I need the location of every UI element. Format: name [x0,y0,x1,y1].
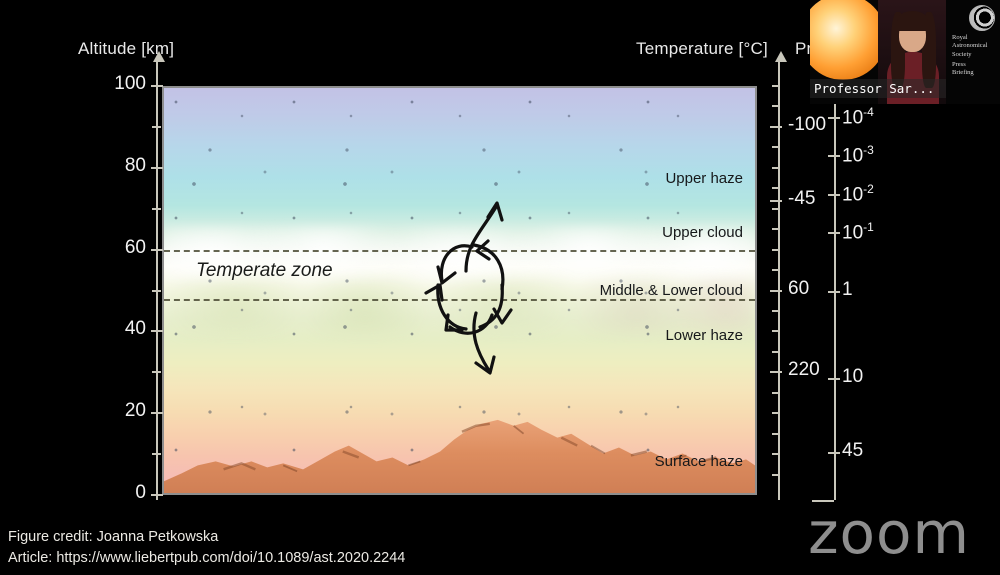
pressure-tick [828,378,840,380]
altitude-minor-tick [152,453,161,455]
temperature-minor-tick [772,310,780,312]
altitude-axis-arrow [152,50,166,66]
speaker-name-label: Professor Sar... [810,79,946,98]
layer-label-surface-haze: Surface haze [655,453,743,470]
temperature-minor-tick [772,167,780,169]
pressure-tick-label: 1 [842,279,853,301]
figure-credit: Figure credit: Joanna Petkowska Article:… [8,527,405,569]
temperature-minor-tick [772,85,780,87]
temperature-tick [770,371,782,373]
temperature-minor-tick [772,474,780,476]
altitude-tick [151,330,163,332]
temperature-minor-tick [772,269,780,271]
temperature-tick-label: 60 [788,278,809,300]
layer-label-middle-lower-cloud: Middle & Lower cloud [600,282,743,299]
temperature-minor-tick [772,392,780,394]
temperature-tick [770,290,782,292]
altitude-minor-tick [152,126,161,128]
branding-organisation: Royal Astronomical Society [952,34,987,59]
zoom-watermark: zoom [808,499,970,567]
presentation-slide: Altitude [km] Temperature [°C] Pre [0,0,1000,575]
altitude-tick-label: 0 [135,482,146,504]
pressure-tick [828,452,840,454]
temperature-minor-tick [772,146,780,148]
temperature-axis-arrow [774,50,788,66]
pressure-tick [828,194,840,196]
altitude-axis: 020406080100 [150,60,164,500]
pressure-tick-label: 10-2 [842,182,874,206]
temperature-minor-tick [772,187,780,189]
pressure-tick-label: 10-1 [842,220,874,244]
altitude-tick [151,167,163,169]
temperature-minor-tick [772,208,780,210]
atmosphere-diagram-plot: Temperate zone Upper haze Upper cloud Mi… [162,86,757,495]
temperate-zone-label: Temperate zone [196,260,333,282]
temperature-minor-tick [772,453,780,455]
temperature-tick-label: 220 [788,359,820,381]
credit-line-article: Article: https://www.liebertpub.com/doi/… [8,548,405,569]
layer-label-upper-haze: Upper haze [665,170,743,187]
pressure-tick-label: 10-3 [842,143,874,167]
altitude-tick [151,85,163,87]
temperature-minor-tick [772,105,780,107]
layer-label-upper-cloud: Upper cloud [662,224,743,241]
video-tile-branding[interactable]: Royal Astronomical Society Press Briefin… [946,0,1000,104]
surface-terrain [164,404,755,493]
altitude-tick-label: 40 [125,318,146,340]
pressure-tick [828,291,840,293]
altitude-tick-label: 80 [125,155,146,177]
altitude-tick [151,494,163,496]
altitude-tick [151,412,163,414]
royal-astronomical-society-logo-icon [969,5,995,31]
altitude-tick [151,249,163,251]
pressure-tick [828,155,840,157]
credit-line-author: Figure credit: Joanna Petkowska [8,527,405,548]
video-participant-strip[interactable]: Royal Astronomical Society Press Briefin… [810,0,1000,104]
altitude-minor-tick [152,290,161,292]
altitude-tick-label: 20 [125,400,146,422]
pressure-axis: 10-410-310-210-111045 [828,96,842,500]
temperature-minor-tick [772,330,780,332]
temperature-minor-tick [772,412,780,414]
temperature-minor-tick [772,228,780,230]
pressure-tick [828,117,840,119]
temperature-minor-tick [772,351,780,353]
branding-session: Press Briefing [952,61,974,78]
altitude-tick-label: 60 [125,237,146,259]
temperature-tick [770,126,782,128]
pressure-tick-label: 45 [842,440,863,462]
sun-icon [810,0,878,80]
pressure-tick-label: 10 [842,366,863,388]
temperature-axis-title: Temperature [°C] [636,39,768,59]
temperature-tick [770,200,782,202]
pressure-tick-label: 10-4 [842,105,874,129]
pressure-tick [828,232,840,234]
speaker-hair-top [897,11,928,31]
temperature-minor-tick [772,433,780,435]
temperature-minor-tick [772,249,780,251]
altitude-tick-label: 100 [114,73,146,95]
layer-label-lower-haze: Lower haze [665,327,743,344]
circulation-arrows-icon [414,193,534,383]
temperature-tick-label: -100 [788,114,826,136]
altitude-minor-tick [152,371,161,373]
temperature-axis: -100-4560220 [772,60,786,500]
temperature-tick-label: -45 [788,188,815,210]
altitude-minor-tick [152,208,161,210]
